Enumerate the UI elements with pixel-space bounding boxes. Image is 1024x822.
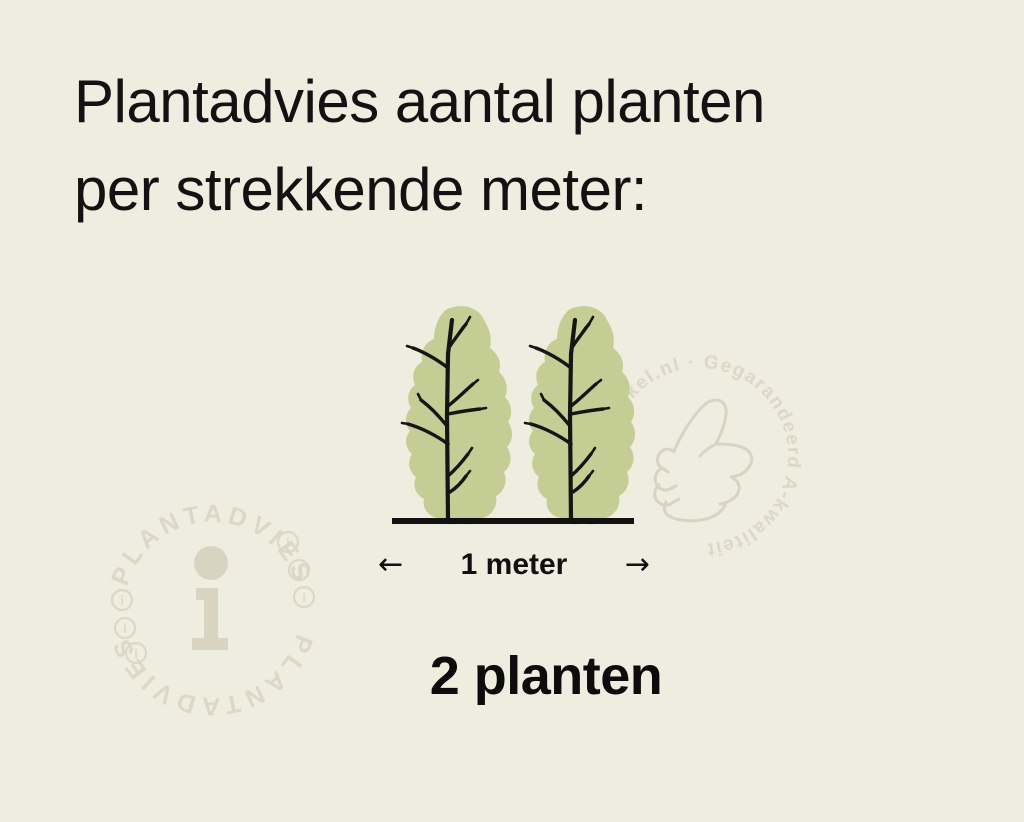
plant-left <box>402 306 512 524</box>
page-title-line-1: Plantadvies aantal planten <box>74 58 934 146</box>
plantadvies-watermark: PLANTADVIES PLANTADVIES i i i i i i <box>92 490 332 730</box>
plantadvies-watermark-top-text: PLANTADVIES <box>106 500 318 589</box>
page-title: Plantadvies aantal planten per strekkend… <box>74 58 934 234</box>
plants-illustration <box>380 296 648 532</box>
svg-text:i: i <box>297 563 301 578</box>
plantadvies-watermark-bottom-text: PLANTADVIES <box>106 631 318 720</box>
plant-left-foliage <box>406 306 512 524</box>
svg-text:i: i <box>286 535 290 550</box>
page-title-line-2: per strekkende meter: <box>74 146 934 234</box>
measure-row: ← 1 meter → <box>378 543 650 587</box>
plant-right <box>525 306 635 524</box>
arrow-left-icon: ← <box>378 550 403 580</box>
ground-line <box>392 518 634 524</box>
svg-text:i: i <box>302 590 306 605</box>
svg-text:i: i <box>120 593 124 608</box>
info-icon <box>192 546 228 650</box>
arrow-right-icon: → <box>625 550 650 580</box>
plant-advice-infographic: Plantadvies aantal planten per strekkend… <box>0 0 1024 822</box>
plant-right-foliage <box>529 306 635 524</box>
thumbs-up-icon <box>655 400 752 521</box>
result-text: 2 planten <box>376 645 716 707</box>
measure-label: 1 meter <box>461 548 568 582</box>
info-badge-group: i i i i i i <box>112 532 314 663</box>
svg-text:i: i <box>134 646 138 661</box>
svg-text:i: i <box>123 621 127 636</box>
